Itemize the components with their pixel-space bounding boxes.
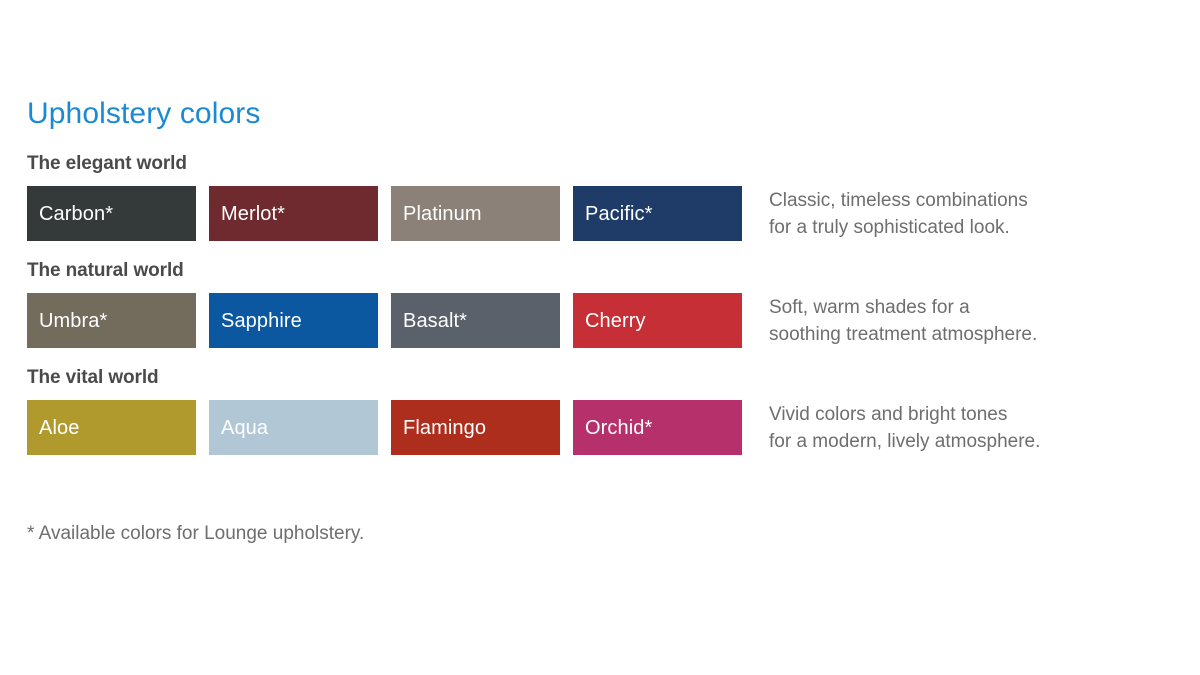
color-swatch[interactable]: Aqua — [209, 400, 378, 455]
color-swatch[interactable]: Merlot* — [209, 186, 378, 241]
color-swatch-label: Aloe — [39, 416, 79, 440]
color-swatch-label: Carbon* — [39, 202, 113, 226]
color-swatch[interactable]: Basalt* — [391, 293, 560, 348]
group-heading: The natural world — [27, 259, 1200, 283]
color-swatch[interactable]: Aloe — [27, 400, 196, 455]
swatch-row: Umbra*SapphireBasalt*Cherry — [27, 293, 742, 348]
group-heading: The elegant world — [27, 152, 1200, 176]
color-swatch[interactable]: Orchid* — [573, 400, 742, 455]
swatch-row: Carbon*Merlot*PlatinumPacific* — [27, 186, 742, 241]
group-description: Soft, warm shades for a soothing treatme… — [769, 293, 1037, 348]
group-heading: The vital world — [27, 366, 1200, 390]
color-swatch-label: Flamingo — [403, 416, 486, 440]
color-swatch-label: Orchid* — [585, 416, 652, 440]
group-body: Carbon*Merlot*PlatinumPacific*Classic, t… — [27, 186, 1200, 241]
color-group: The natural worldUmbra*SapphireBasalt*Ch… — [0, 259, 1200, 348]
color-groups: The elegant worldCarbon*Merlot*PlatinumP… — [0, 152, 1200, 473]
color-swatch[interactable]: Pacific* — [573, 186, 742, 241]
group-body: AloeAquaFlamingoOrchid*Vivid colors and … — [27, 400, 1200, 455]
page-title: Upholstery colors — [27, 96, 260, 132]
color-swatch-label: Umbra* — [39, 309, 107, 333]
color-group: The vital worldAloeAquaFlamingoOrchid*Vi… — [0, 366, 1200, 455]
group-description: Classic, timeless combinations for a tru… — [769, 186, 1028, 241]
color-swatch-label: Sapphire — [221, 309, 302, 333]
color-group: The elegant worldCarbon*Merlot*PlatinumP… — [0, 152, 1200, 241]
color-swatch[interactable]: Flamingo — [391, 400, 560, 455]
color-swatch-label: Merlot* — [221, 202, 285, 226]
color-swatch-label: Basalt* — [403, 309, 467, 333]
group-description: Vivid colors and bright tones for a mode… — [769, 400, 1040, 455]
footnote: * Available colors for Lounge upholstery… — [27, 521, 364, 547]
color-swatch[interactable]: Cherry — [573, 293, 742, 348]
color-swatch-label: Pacific* — [585, 202, 653, 226]
swatch-row: AloeAquaFlamingoOrchid* — [27, 400, 742, 455]
color-swatch[interactable]: Carbon* — [27, 186, 196, 241]
upholstery-colors-page: Upholstery colors The elegant worldCarbo… — [0, 0, 1200, 675]
color-swatch-label: Cherry — [585, 309, 646, 333]
color-swatch[interactable]: Umbra* — [27, 293, 196, 348]
color-swatch[interactable]: Platinum — [391, 186, 560, 241]
color-swatch-label: Platinum — [403, 202, 482, 226]
color-swatch[interactable]: Sapphire — [209, 293, 378, 348]
color-swatch-label: Aqua — [221, 416, 268, 440]
group-body: Umbra*SapphireBasalt*CherrySoft, warm sh… — [27, 293, 1200, 348]
